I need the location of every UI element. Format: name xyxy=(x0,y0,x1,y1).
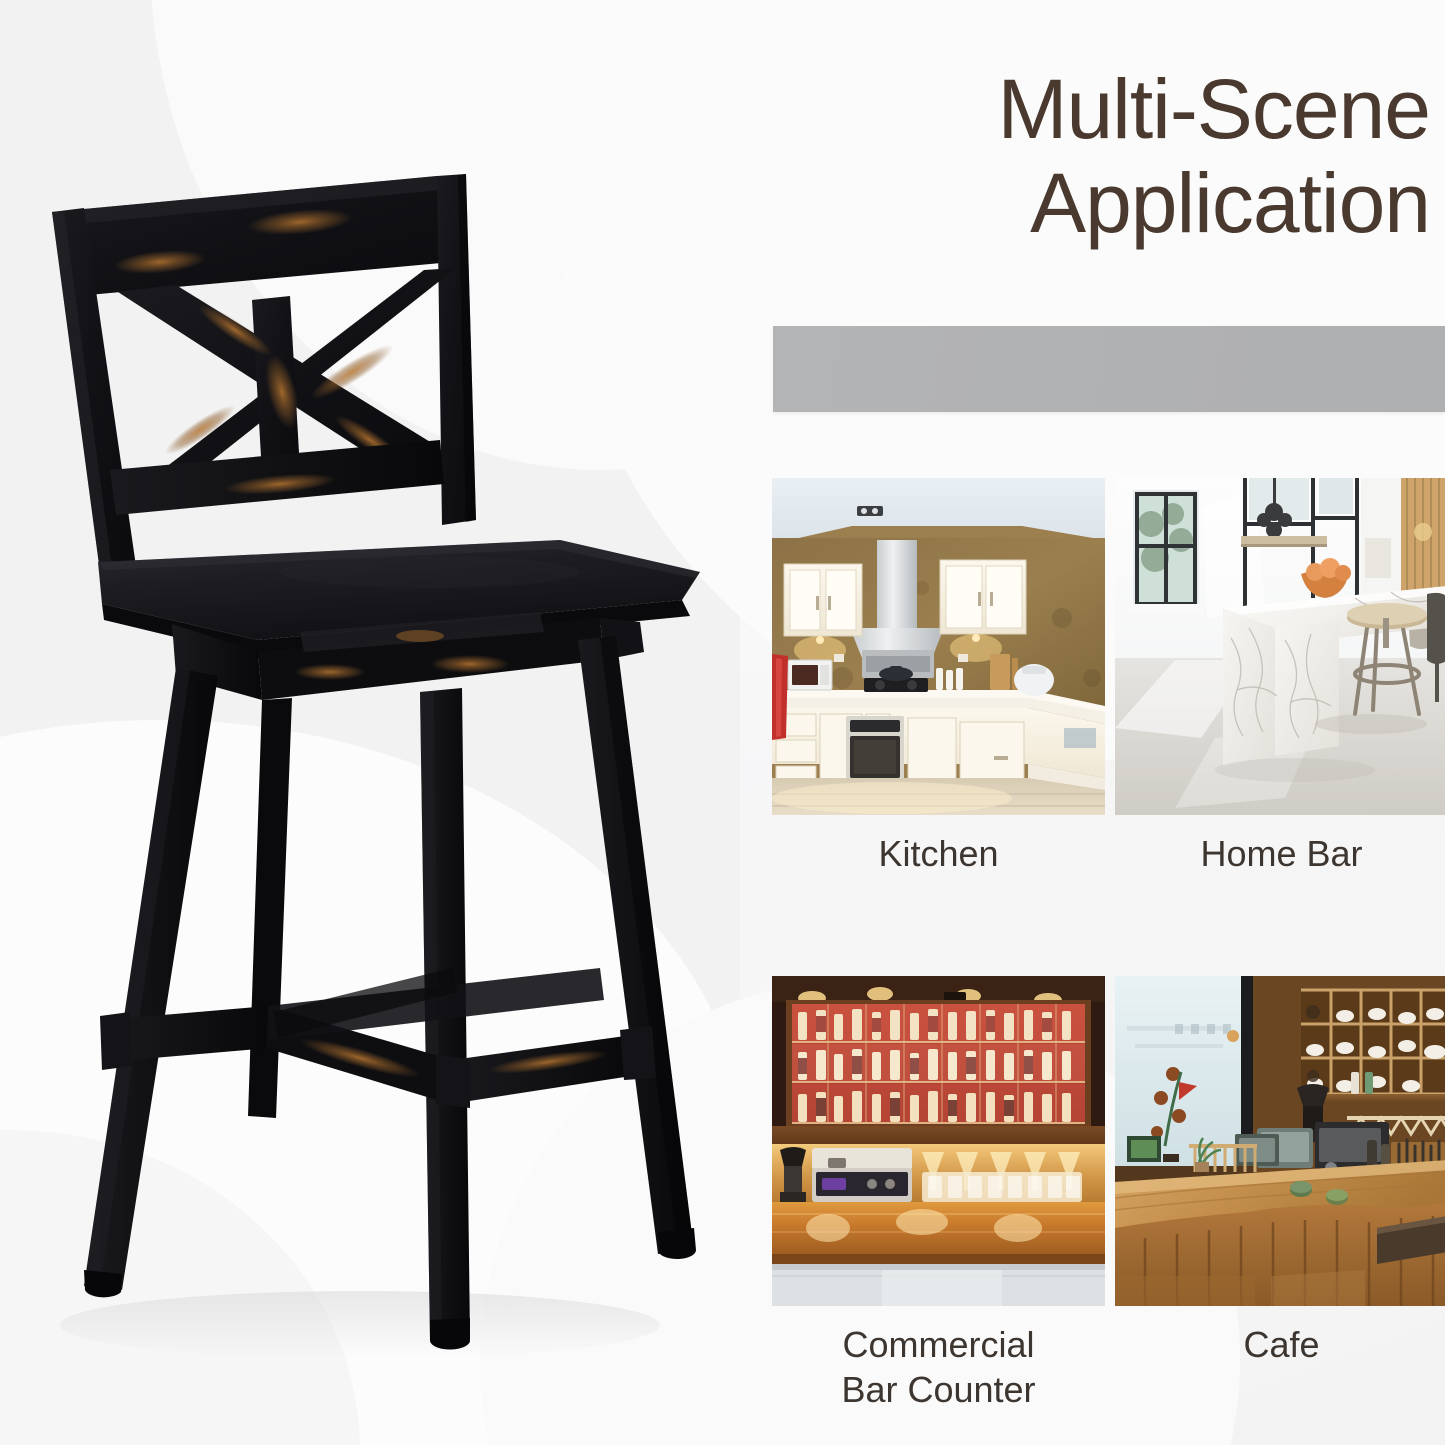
scene-cell-commercial-bar-counter[interactable]: Commercial Bar Counter xyxy=(772,976,1105,1412)
scene-label-commercial-bar-counter: Commercial Bar Counter xyxy=(772,1322,1105,1412)
scene-cell-home-bar[interactable]: Home Bar xyxy=(1115,478,1445,876)
right-content-panel: Multi-Scene Application xyxy=(760,0,1445,1445)
scene-cell-kitchen[interactable]: Kitchen xyxy=(772,478,1105,876)
scene-photo-home-bar xyxy=(1115,478,1445,815)
page-title: Multi-Scene Application xyxy=(770,62,1430,250)
scene-photo-commercial-bar-counter xyxy=(772,976,1105,1306)
scene-row-top: Kitchen xyxy=(772,478,1445,876)
product-image-bar-stool xyxy=(0,0,760,1445)
scene-label-cafe: Cafe xyxy=(1115,1322,1445,1367)
row-spacer xyxy=(772,876,1445,976)
scene-label-home-bar: Home Bar xyxy=(1115,831,1445,876)
scene-photo-cafe xyxy=(1115,976,1445,1306)
scene-cell-cafe[interactable]: Cafe xyxy=(1115,976,1445,1412)
scene-grid: Kitchen xyxy=(772,478,1445,1412)
marketing-image-canvas: Multi-Scene Application xyxy=(0,0,1445,1445)
divider-bar xyxy=(773,326,1445,412)
scene-label-kitchen: Kitchen xyxy=(772,831,1105,876)
scene-row-bottom: Commercial Bar Counter xyxy=(772,976,1445,1412)
scene-photo-kitchen xyxy=(772,478,1105,815)
